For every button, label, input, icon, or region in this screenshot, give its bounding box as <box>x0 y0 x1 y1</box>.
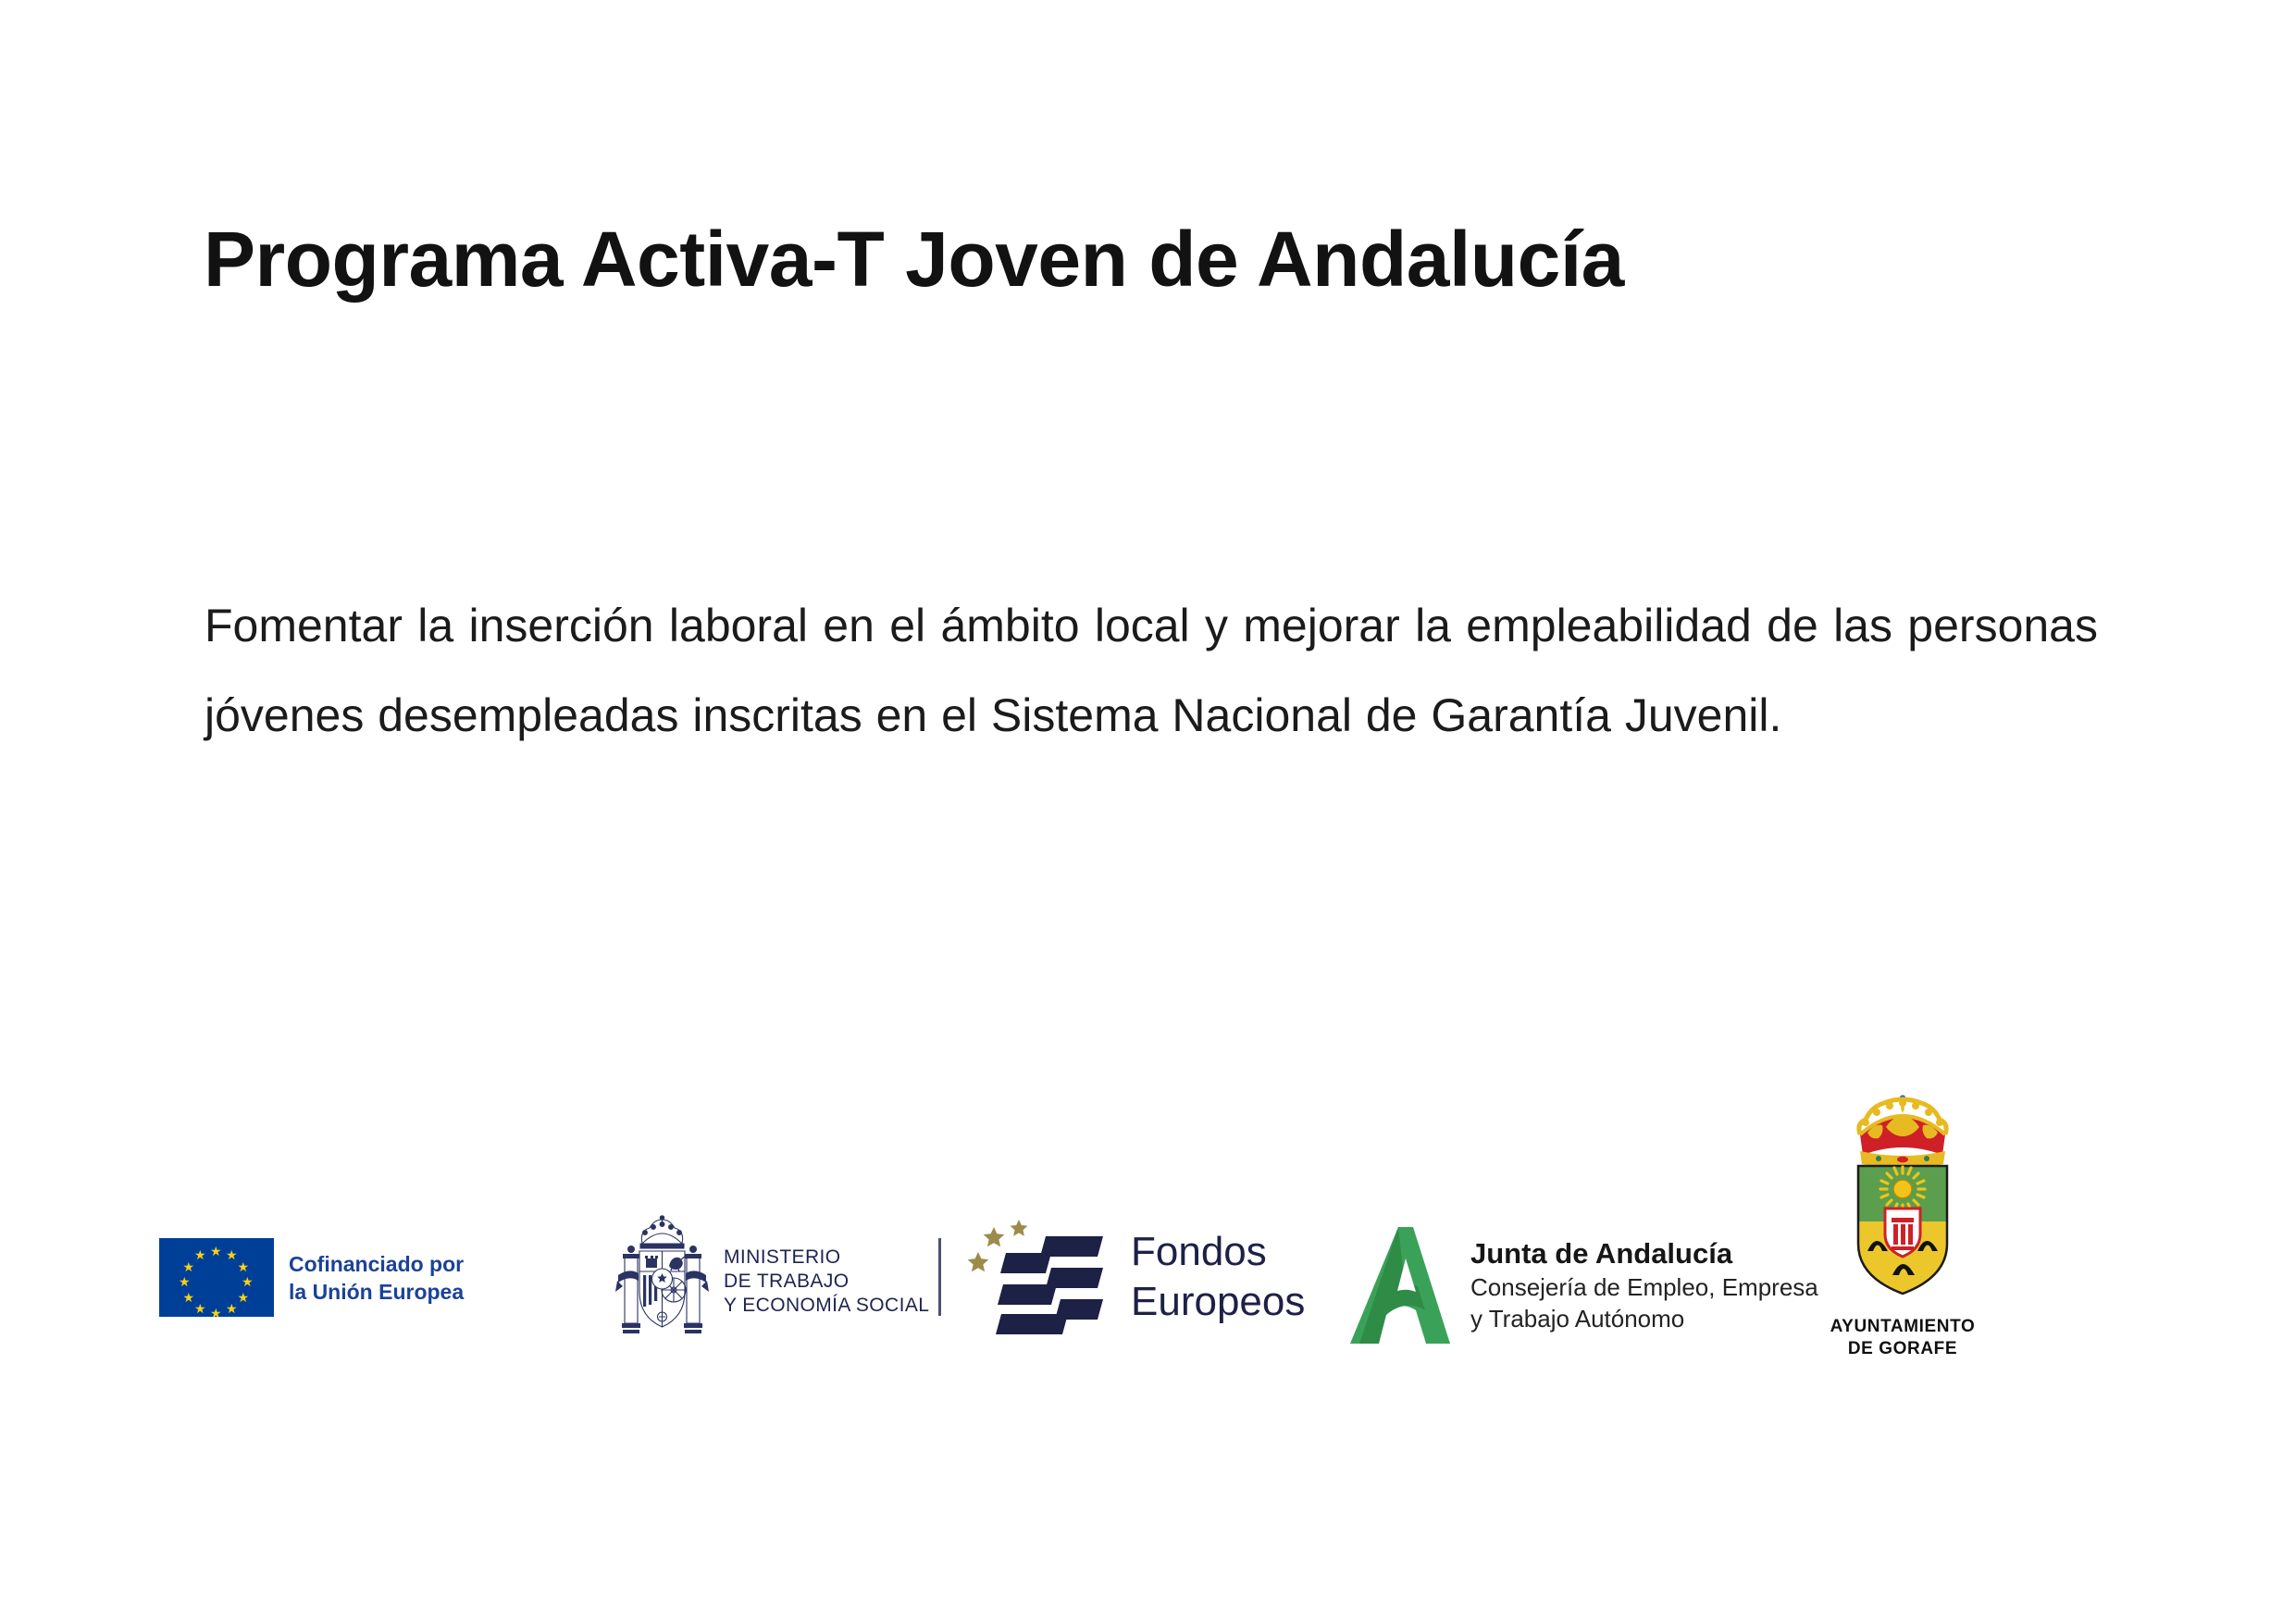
ministry-logo-text: MINISTERIO DE TRABAJO Y ECONOMÍA SOCIAL <box>724 1246 929 1318</box>
funding-logo-strip: Cofinanciado por la Unión Europea <box>0 1092 2295 1370</box>
junta-title: Junta de Andalucía <box>1470 1236 1818 1271</box>
spain-coat-of-arms-icon <box>614 1212 711 1351</box>
junta-andalucia-a-icon <box>1350 1221 1459 1349</box>
eu-logo-text: Cofinanciado por la Unión Europea <box>289 1250 464 1306</box>
page-title: Programa Activa-T Joven de Andalucía <box>204 217 2110 302</box>
royal-crown-icon <box>1859 1095 1946 1169</box>
ministry-line3: Y ECONOMÍA SOCIAL <box>724 1294 929 1318</box>
logo-divider <box>938 1238 941 1316</box>
logo-ministerio-trabajo: MINISTERIO DE TRABAJO Y ECONOMÍA SOCIAL <box>614 1212 929 1351</box>
sun-icon <box>1880 1167 1925 1211</box>
ministry-line1: MINISTERIO <box>724 1246 929 1270</box>
fondos-logo-text: Fondos Europeos <box>1131 1227 1305 1327</box>
junta-logo-text: Junta de Andalucía Consejería de Empleo,… <box>1470 1236 1818 1334</box>
fondos-line1: Fondos <box>1131 1227 1305 1277</box>
fondos-line2: Europeos <box>1131 1277 1305 1327</box>
fondos-europeos-mark-icon <box>968 1210 1118 1343</box>
eu-logo-line1: Cofinanciado por <box>289 1250 464 1278</box>
gorafe-line1: AYUNTAMIENTO <box>1819 1316 1986 1338</box>
eu-logo-line2: la Unión Europea <box>289 1278 464 1306</box>
gorafe-line2: DE GORAFE <box>1819 1338 1986 1360</box>
eu-flag-icon <box>159 1238 274 1317</box>
junta-subtitle-line1: Consejería de Empleo, Empresa <box>1470 1271 1818 1303</box>
logo-ayuntamiento-gorafe: AYUNTAMIENTO DE GORAFE <box>1819 1092 1986 1360</box>
gorafe-coat-of-arms-icon <box>1819 1092 1986 1314</box>
logo-fondos-europeos: Fondos Europeos <box>968 1210 1305 1343</box>
junta-subtitle-line2: y Trabajo Autónomo <box>1470 1303 1818 1334</box>
fondos-bars-icon <box>996 1236 1103 1334</box>
logo-european-union: Cofinanciado por la Unión Europea <box>159 1238 464 1317</box>
program-description: Fomentar la inserción laboral en el ámbi… <box>205 581 2098 761</box>
gorafe-logo-text: AYUNTAMIENTO DE GORAFE <box>1819 1316 1986 1360</box>
logo-junta-de-andalucia: Junta de Andalucía Consejería de Empleo,… <box>1350 1221 1818 1349</box>
dolmen-inescutcheon-icon <box>1885 1209 1920 1257</box>
ministry-line2: DE TRABAJO <box>724 1270 929 1294</box>
